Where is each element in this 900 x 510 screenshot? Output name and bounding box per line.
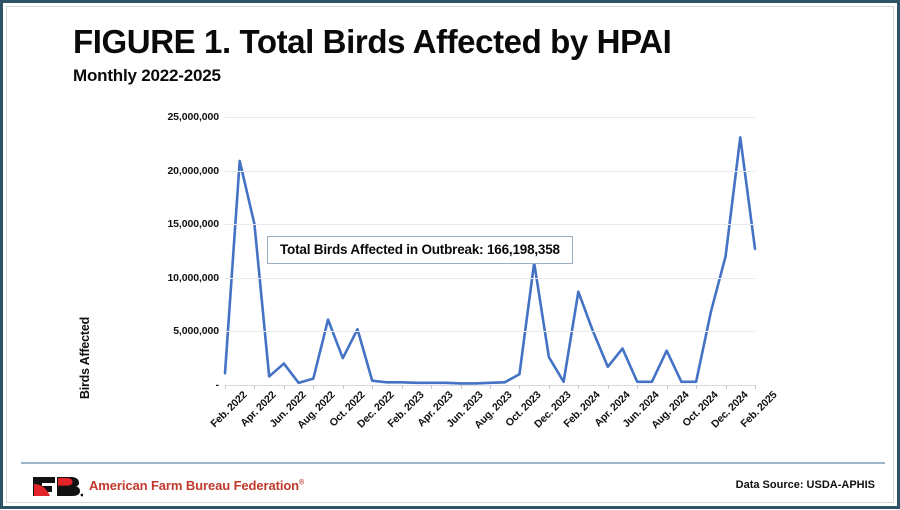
x-axis-tick-labels: Feb. 2022Apr. 2022Jun. 2022Aug. 2022Oct.… bbox=[3, 389, 900, 459]
gridline bbox=[225, 224, 755, 225]
page-title: FIGURE 1. Total Birds Affected by HPAI bbox=[73, 25, 671, 60]
total-birds-annotation: Total Birds Affected in Outbreak: 166,19… bbox=[267, 236, 573, 264]
page-subtitle: Monthly 2022-2025 bbox=[73, 66, 671, 86]
brand-text: American Farm Bureau Federation bbox=[89, 478, 299, 493]
y-axis-tick-label: 10,000,000 bbox=[131, 272, 219, 284]
slide-footer: American Farm Bureau Federation® Data So… bbox=[3, 465, 900, 510]
slide-header: FIGURE 1. Total Birds Affected by HPAI M… bbox=[73, 25, 671, 86]
brand-name: American Farm Bureau Federation® bbox=[89, 478, 304, 493]
data-source-label: Data Source: USDA-APHIS bbox=[736, 479, 875, 491]
y-axis-tick-label: 5,000,000 bbox=[131, 325, 219, 337]
gridline bbox=[225, 117, 755, 118]
gridline bbox=[225, 331, 755, 332]
slide: FIGURE 1. Total Birds Affected by HPAI M… bbox=[0, 0, 900, 509]
y-axis-tick-label: 15,000,000 bbox=[131, 218, 219, 230]
y-axis-title-text: Birds Affected bbox=[78, 317, 92, 399]
gridline bbox=[225, 278, 755, 279]
y-axis-tick-labels: 25,000,00020,000,00015,000,00010,000,000… bbox=[131, 103, 219, 393]
line-chart: Birds Affected 25,000,00020,000,00015,00… bbox=[3, 103, 900, 458]
farm-bureau-logo-icon bbox=[31, 474, 83, 498]
trademark-mark: ® bbox=[299, 480, 304, 487]
y-axis-tick-label: 20,000,000 bbox=[131, 165, 219, 177]
gridline bbox=[225, 171, 755, 172]
footer-divider bbox=[21, 462, 885, 464]
y-axis-tick-label: 25,000,000 bbox=[131, 111, 219, 123]
